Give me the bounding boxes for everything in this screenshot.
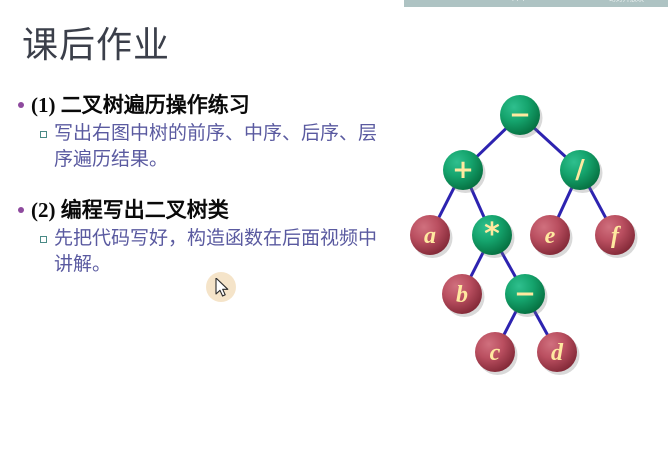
bullet-dot-icon (18, 102, 24, 108)
toolbar-label-slideshow: 幻灯片放映 (609, 0, 644, 4)
tree-node-label: − (509, 100, 531, 130)
bullet-level2-1: 写出右图中树的前序、中序、后序、层序遍历结果。 (14, 121, 414, 173)
tree-node-mul[interactable]: * (472, 215, 515, 258)
tree-node-label: − (514, 279, 536, 309)
tree-edge (438, 185, 456, 220)
bullet-group-2: (2) 编程写出二叉树类 先把代码写好，构造函数在后面视频中讲解。 (14, 197, 414, 278)
tree-node-e[interactable]: e (530, 215, 573, 258)
bullet-level2-2: 先把代码写好，构造函数在后面视频中讲解。 (14, 226, 414, 278)
bullet-level1-2: (2) 编程写出二叉树类 (14, 197, 414, 224)
tree-node-b[interactable]: b (442, 274, 485, 317)
tree-node-layer: −+/a*efb−cd (410, 95, 638, 375)
tree-edge (503, 309, 517, 337)
toolbar-label-ppt: PPT (512, 0, 526, 4)
tree-edge (475, 127, 508, 158)
binary-expression-tree-diagram: −+/a*efb−cd (400, 85, 668, 385)
bullet-square-icon (40, 131, 47, 138)
bullet-level1-1: (1) 二叉树遍历操作练习 (14, 92, 414, 119)
tree-node-label: e (545, 223, 556, 249)
page-title: 课后作业 (22, 22, 170, 68)
tree-node-a[interactable]: a (410, 215, 453, 258)
tree-node-c[interactable]: c (475, 332, 518, 375)
bullet-level1-2-text: (2) 编程写出二叉树类 (31, 197, 229, 224)
tree-node-minus[interactable]: − (505, 274, 548, 317)
tree-node-label: * (484, 217, 500, 252)
tree-node-minus[interactable]: − (500, 95, 543, 138)
tree-node-d[interactable]: d (537, 332, 580, 375)
tree-node-label: d (551, 340, 564, 366)
app-toolbar-strip[interactable]: PPT 幻灯片放映 (404, 0, 668, 7)
tree-node-label: b (456, 282, 468, 308)
bullet-level2-2-text: 先把代码写好，构造函数在后面视频中讲解。 (54, 226, 389, 278)
bullet-level2-1-text: 写出右图中树的前序、中序、后序、层序遍历结果。 (54, 121, 389, 173)
bullet-group-1: (1) 二叉树遍历操作练习 写出右图中树的前序、中序、后序、层序遍历结果。 (14, 92, 414, 173)
tree-edge (470, 250, 485, 279)
tree-edge (533, 126, 568, 158)
tree-node-label: + (452, 155, 474, 185)
tree-node-label: c (490, 340, 501, 366)
bullet-level1-1-text: (1) 二叉树遍历操作练习 (31, 92, 250, 119)
bullet-dot-icon (18, 207, 24, 213)
tree-node-label: a (424, 223, 436, 249)
tree-node-label: / (575, 155, 585, 185)
bullet-square-icon (40, 236, 47, 243)
tree-node-div[interactable]: / (560, 150, 603, 193)
slide-body: (1) 二叉树遍历操作练习 写出右图中树的前序、中序、后序、层序遍历结果。 (2… (14, 92, 414, 292)
tree-node-f[interactable]: f (595, 215, 638, 258)
tree-edge (557, 185, 573, 219)
